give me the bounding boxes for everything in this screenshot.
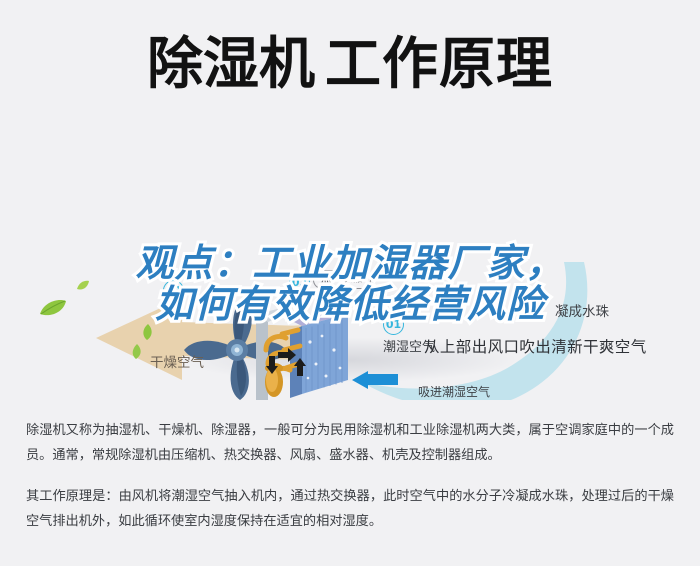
badge-01: 01 — [383, 314, 404, 335]
label-dry-air: 干燥空气 — [150, 356, 204, 370]
label-step3-description: 从上部出风口吹出清新干爽空气 — [424, 340, 647, 356]
badge-03-fan: 03 — [163, 280, 184, 301]
title-text: 除湿机工作原理 — [147, 37, 553, 93]
paragraph-2: 其工作原理是：由风机将潮湿空气抽入机内，通过热交换器，此时空气中的水分子冷凝成水… — [26, 484, 674, 534]
dehumidifier-diagram: 01 02 03 03 热交换器 干燥空气 潮湿空气 水箱 吸进潮湿空气 — [0, 128, 700, 400]
callout-tail-icon — [340, 286, 354, 306]
article-body: 除湿机又称为抽湿机、干燥机、除湿器，一般可分为民用除湿机和工业除湿机两大类，属于… — [0, 404, 700, 534]
badge-02: 02 — [289, 272, 310, 293]
page-title: 除湿机工作原理 — [0, 0, 700, 130]
label-condensation: 凝成水珠 — [555, 305, 609, 319]
leaf-icon — [141, 324, 154, 341]
intake-arrow-icon — [352, 371, 398, 389]
page-root: 除湿机工作原理 — [0, 0, 700, 566]
paragraph-1: 除湿机又称为抽湿机、干燥机、除湿器，一般可分为民用除湿机和工业除湿机两大类，属于… — [26, 418, 674, 468]
leaf-icon — [131, 344, 143, 360]
leaf-icon — [38, 298, 68, 318]
leaf-icon — [76, 280, 90, 291]
label-intake-humid-air: 吸进潮湿空气 — [418, 386, 490, 398]
title-part-2: 工作原理 — [325, 32, 553, 97]
title-part-1: 除湿机 — [147, 32, 315, 97]
